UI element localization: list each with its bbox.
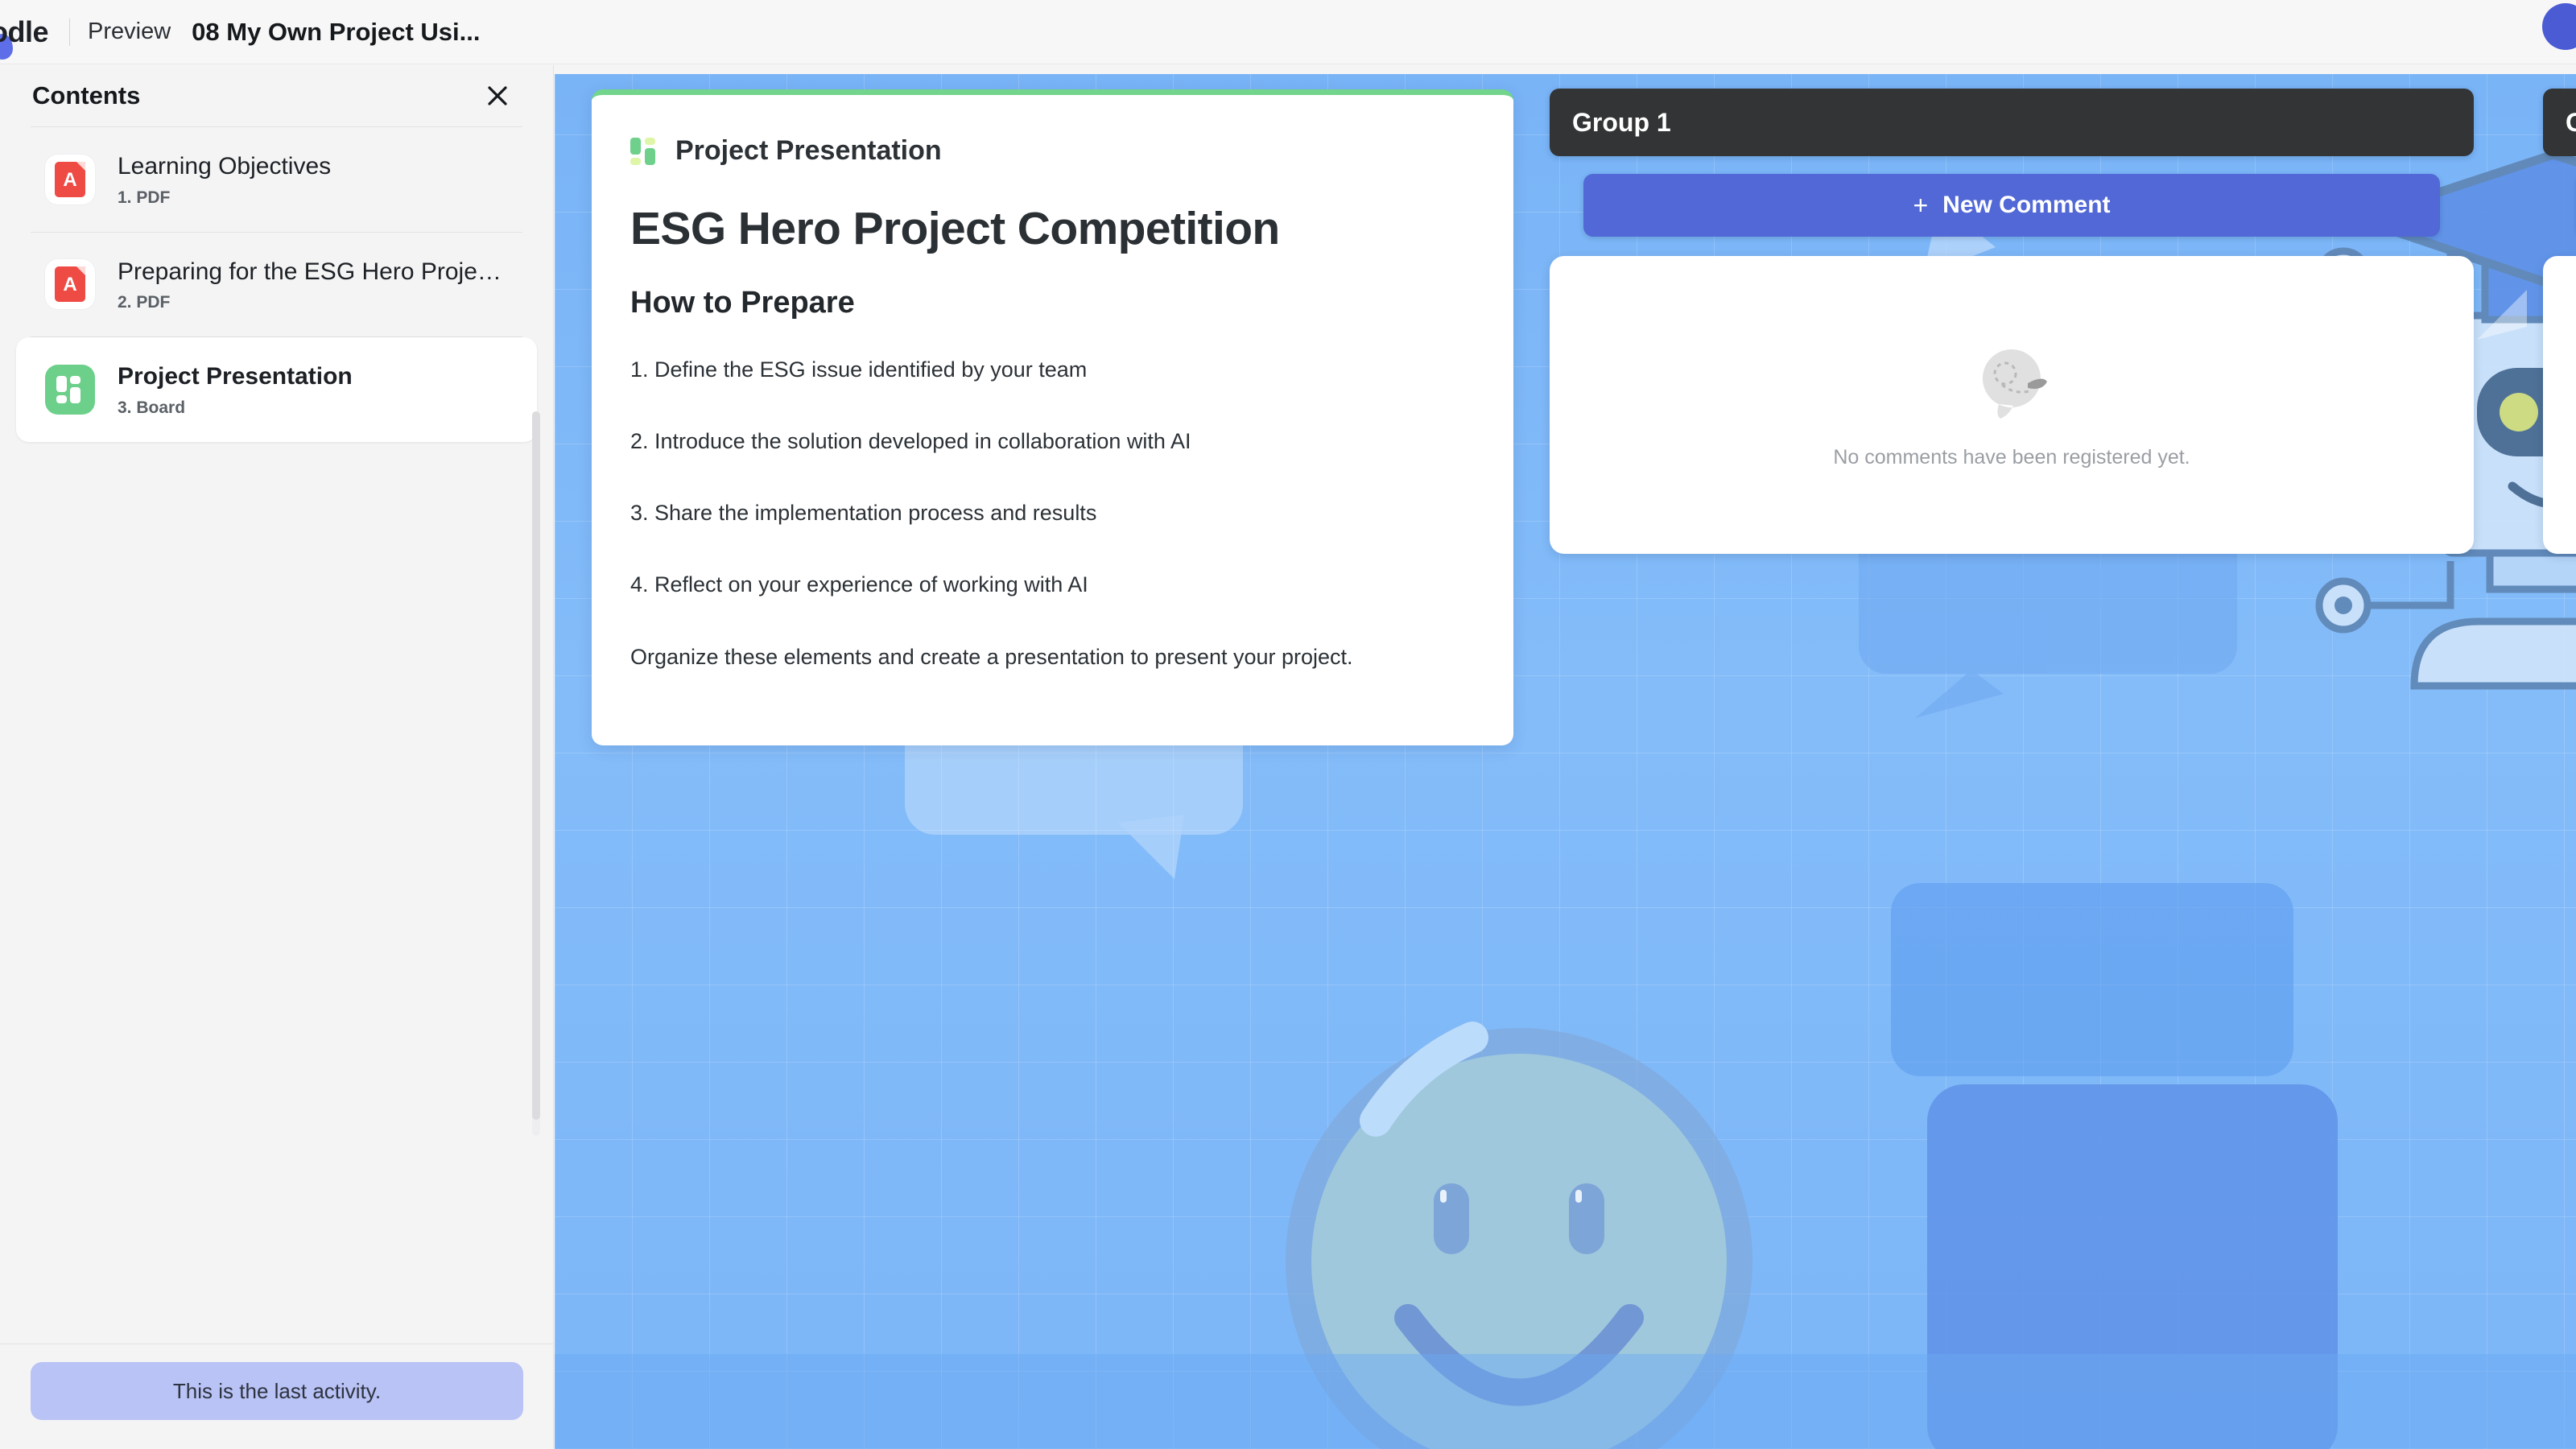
sidebar-scrollbar[interactable] [532, 411, 540, 1136]
sidebar-footer: This is the last activity. [0, 1344, 554, 1449]
new-comment-label: New Comment [1942, 192, 2110, 219]
plus-icon: + [1913, 192, 1928, 218]
preview-label: Preview [88, 19, 171, 45]
close-sidebar-button[interactable] [476, 74, 519, 118]
comments-list[interactable]: No comments have been registered yet. [1550, 256, 2474, 554]
activity-content-card: Project Presentation ESG Hero Project Co… [592, 89, 1513, 745]
sidebar-item-label: Learning Objectives [118, 151, 331, 182]
group-title: Group 2 [2543, 89, 2576, 156]
sidebar-item-learning-objectives[interactable]: A Learning Objectives 1. PDF [16, 127, 537, 232]
pdf-file-icon: A [45, 155, 95, 204]
sidebar-item-label: Preparing for the ESG Hero Project ... [118, 257, 508, 287]
comments-list[interactable]: No comments have been registered yet. [2543, 256, 2576, 554]
card-paragraph: 1. Define the ESG issue identified by yo… [630, 354, 1462, 386]
card-paragraph: 2. Introduce the solution developed in c… [630, 426, 1462, 457]
moodle-logo[interactable]: odle [0, 10, 58, 55]
sidebar-item-project-presentation[interactable]: Project Presentation 3. Board [16, 337, 537, 442]
sidebar-item-meta: 1. PDF [118, 188, 331, 208]
pdf-file-icon: A [45, 259, 95, 309]
avatar[interactable] [2542, 3, 2576, 50]
close-icon [485, 84, 510, 108]
card-kicker: Project Presentation [630, 135, 1462, 167]
course-title: 08 My Own Project Usi... [192, 18, 480, 47]
card-paragraph: 3. Share the implementation process and … [630, 497, 1462, 529]
board-icon [630, 138, 658, 165]
sidebar-item-meta: 2. PDF [118, 293, 508, 312]
pointer-bubble-icon [2471, 290, 2535, 362]
group-panel-2: Group 2 + New Comment No comments have b… [2543, 89, 2576, 554]
group-title: Group 1 [1550, 89, 2474, 156]
empty-comment-bubble-icon [1970, 341, 2054, 425]
contents-sidebar: Contents A Learning Objectives 1. PDF A … [0, 65, 554, 1449]
new-comment-button[interactable]: + New Comment [1583, 174, 2440, 237]
group-panel-1: Group 1 + New Comment No comments have b… [1550, 89, 2474, 554]
empty-state-text: No comments have been registered yet. [1833, 446, 2190, 469]
card-paragraph: Organize these elements and create a pre… [630, 642, 1462, 673]
logo-text: odle [0, 15, 48, 49]
sidebar-header: Contents [0, 65, 553, 126]
sidebar-item-label: Project Presentation [118, 361, 353, 392]
sidebar-item-preparing-esg-hero-project[interactable]: A Preparing for the ESG Hero Project ...… [16, 233, 537, 337]
card-subheading: How to Prepare [630, 286, 1462, 320]
sidebar-item-meta: 3. Board [118, 398, 353, 418]
card-paragraph: 4. Reflect on your experience of working… [630, 569, 1462, 601]
sidebar-scrollbar-thumb[interactable] [532, 411, 540, 1120]
board-icon [45, 365, 95, 415]
page-title: Contents [32, 81, 140, 110]
topbar-divider [69, 19, 70, 46]
card-kicker-label: Project Presentation [675, 135, 942, 167]
top-bar: odle Preview 08 My Own Project Usi... [0, 0, 2576, 64]
card-heading: ESG Hero Project Competition [630, 202, 1462, 255]
last-activity-note: This is the last activity. [31, 1362, 523, 1420]
